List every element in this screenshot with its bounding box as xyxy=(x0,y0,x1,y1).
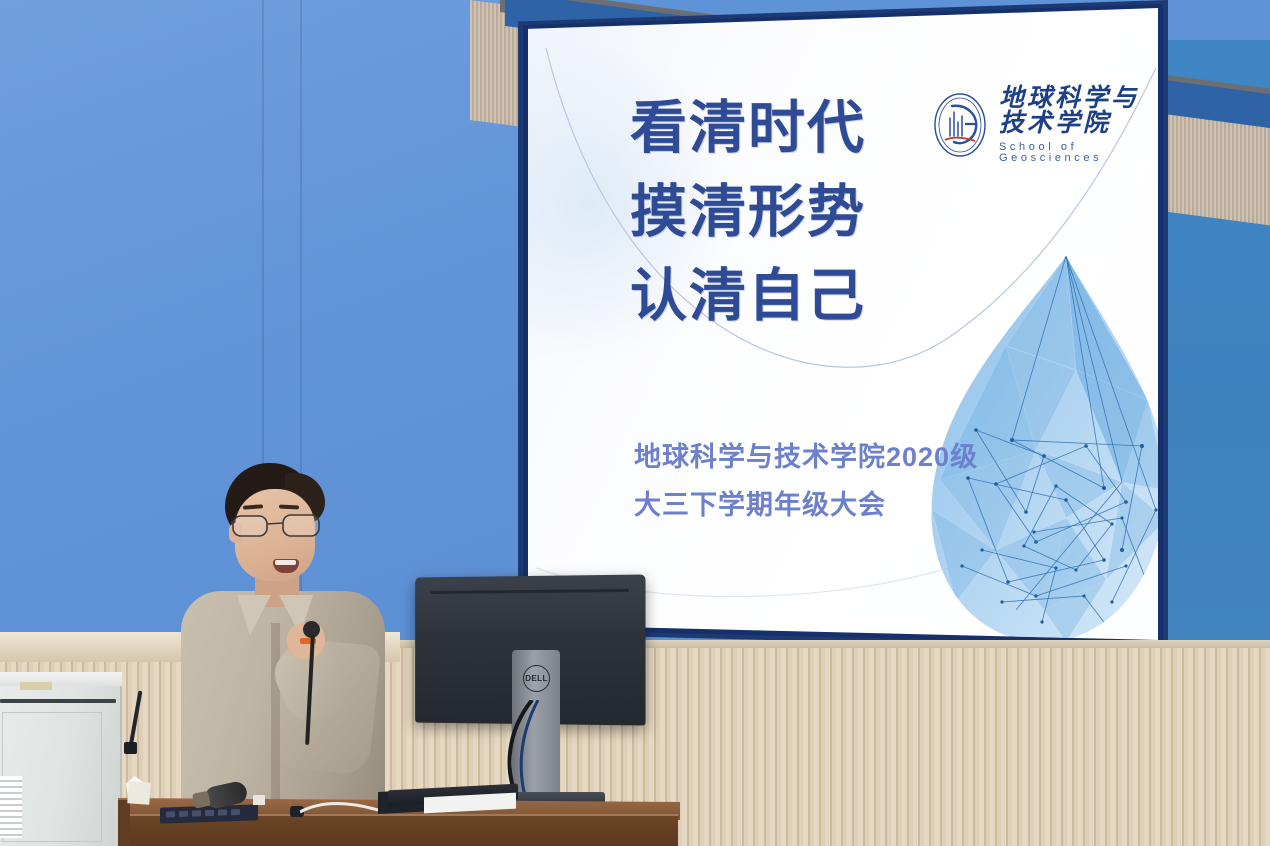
cabinet-top xyxy=(0,672,122,686)
svg-text:· · · · ·: · · · · · xyxy=(955,150,964,154)
slide-title-line-3: 认清自己 xyxy=(630,254,866,338)
logo-chinese-name: 地球科学与技术学院 xyxy=(999,86,1158,136)
control-button[interactable] xyxy=(166,811,175,817)
svg-text:· · · · ·: · · · · · xyxy=(955,98,964,102)
desk-small-object xyxy=(253,795,265,805)
podium-control-panel[interactable] xyxy=(160,804,258,823)
presenter xyxy=(175,455,390,846)
antenna-base xyxy=(124,742,137,754)
slide-title: 看清时代 摸清形势 认清自己 xyxy=(630,86,866,338)
white-cable xyxy=(300,800,380,818)
cabinet-label-sticker xyxy=(20,682,52,690)
paper-note xyxy=(127,781,150,804)
eyeglasses-icon xyxy=(231,513,323,539)
logo-text-block: 地球科学与技术学院 School of Geosciences xyxy=(999,86,1158,164)
cabinet-vent-grille xyxy=(0,776,22,838)
podium-side-panel xyxy=(118,800,130,846)
control-button[interactable] xyxy=(218,809,227,815)
dell-logo: DELL xyxy=(523,665,550,692)
presenter-shirt-placket xyxy=(271,623,280,815)
slide-title-line-1: 看清时代 xyxy=(630,86,866,170)
presentation-slide: · · · · · · · · · · 地球科学与技术学院 School of … xyxy=(528,8,1158,640)
control-button[interactable] xyxy=(205,810,214,816)
slide-subtitle-line-2: 大三下学期年级大会 xyxy=(634,481,978,529)
control-button[interactable] xyxy=(192,810,201,816)
slide-subtitle: 地球科学与技术学院2020级 大三下学期年级大会 xyxy=(634,433,978,529)
lecture-hall-photo: · · · · · · · · · · 地球科学与技术学院 School of … xyxy=(0,0,1270,846)
logo-english-name: School of Geosciences xyxy=(999,142,1158,164)
control-button[interactable] xyxy=(231,809,240,815)
university-seal-icon: · · · · · · · · · · xyxy=(932,92,988,158)
cabinet-slot xyxy=(0,699,116,703)
control-button[interactable] xyxy=(179,811,188,817)
control-panel-buttons[interactable] xyxy=(166,809,240,818)
school-logo: · · · · · · · · · · 地球科学与技术学院 School of … xyxy=(932,86,1158,164)
slide-title-line-2: 摸清形势 xyxy=(630,170,866,254)
slide-subtitle-line-1: 地球科学与技术学院2020级 xyxy=(634,433,978,481)
